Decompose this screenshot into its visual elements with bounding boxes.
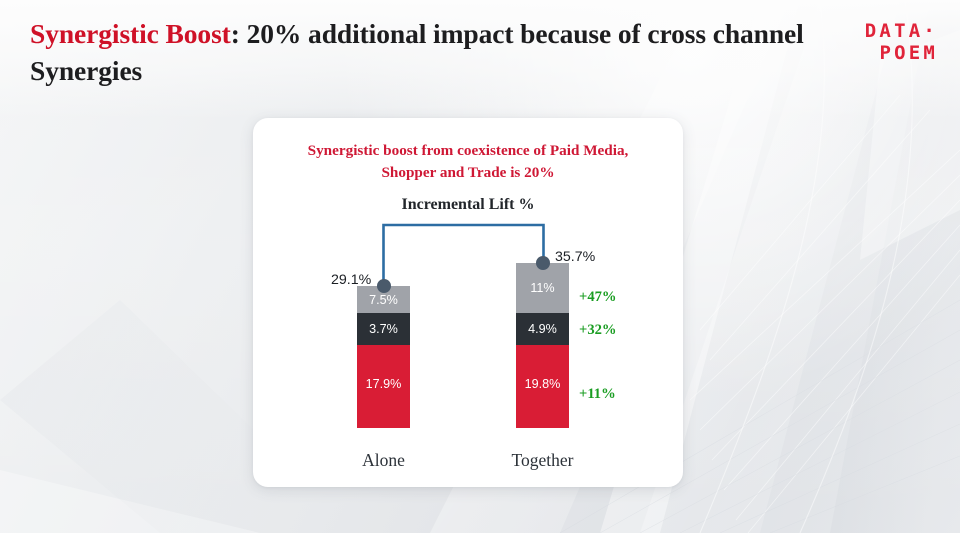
bar-stack-alone[interactable]: 7.5% 3.7% 17.9%	[357, 286, 410, 428]
page-title: Synergistic Boost: 20% additional impact…	[30, 16, 820, 90]
bar-segment-together-top[interactable]: 11%	[516, 263, 569, 313]
brand-logo: DATA· POEM	[865, 20, 938, 65]
bar-segment-alone-middle-label: 3.7%	[369, 322, 398, 336]
bar-segment-together-bottom-label: 19.8%	[525, 377, 561, 391]
total-label-together: 35.7%	[555, 249, 595, 265]
bar-segment-together-middle-label: 4.9%	[528, 322, 557, 336]
bar-segment-together-bottom[interactable]: 19.8%	[516, 345, 569, 428]
page-title-accent: Synergistic Boost	[30, 18, 231, 49]
bar-segment-together-top-label: 11%	[530, 281, 554, 295]
category-label-alone: Alone	[324, 450, 444, 471]
bar-segment-alone-top-label: 7.5%	[369, 293, 398, 307]
category-label-together: Together	[483, 450, 603, 471]
bar-stack-together[interactable]: 11% 4.9% 19.8%	[516, 263, 569, 428]
bar-segment-alone-middle[interactable]: 3.7%	[357, 313, 410, 345]
total-marker-dot-together	[536, 256, 550, 270]
bar-segment-together-middle[interactable]: 4.9%	[516, 313, 569, 345]
chart-card: Synergistic boost from coexistence of Pa…	[253, 118, 683, 487]
slide-header: Synergistic Boost: 20% additional impact…	[0, 0, 960, 108]
lift-label-middle: +32%	[579, 322, 617, 339]
brand-logo-line-2: POEM	[865, 42, 938, 64]
lift-label-bottom: +11%	[579, 386, 616, 403]
bar-segment-alone-bottom[interactable]: 17.9%	[357, 345, 410, 428]
stacked-bar-chart: 7.5% 3.7% 17.9% 29.1% Alone 11% 4.9%	[253, 118, 683, 487]
bar-segment-alone-bottom-label: 17.9%	[366, 377, 402, 391]
connector-bracket	[253, 118, 683, 487]
total-label-alone: 29.1%	[331, 272, 371, 288]
brand-logo-line-1: DATA·	[865, 20, 938, 42]
total-marker-dot-alone	[377, 279, 391, 293]
lift-label-top: +47%	[579, 289, 617, 306]
